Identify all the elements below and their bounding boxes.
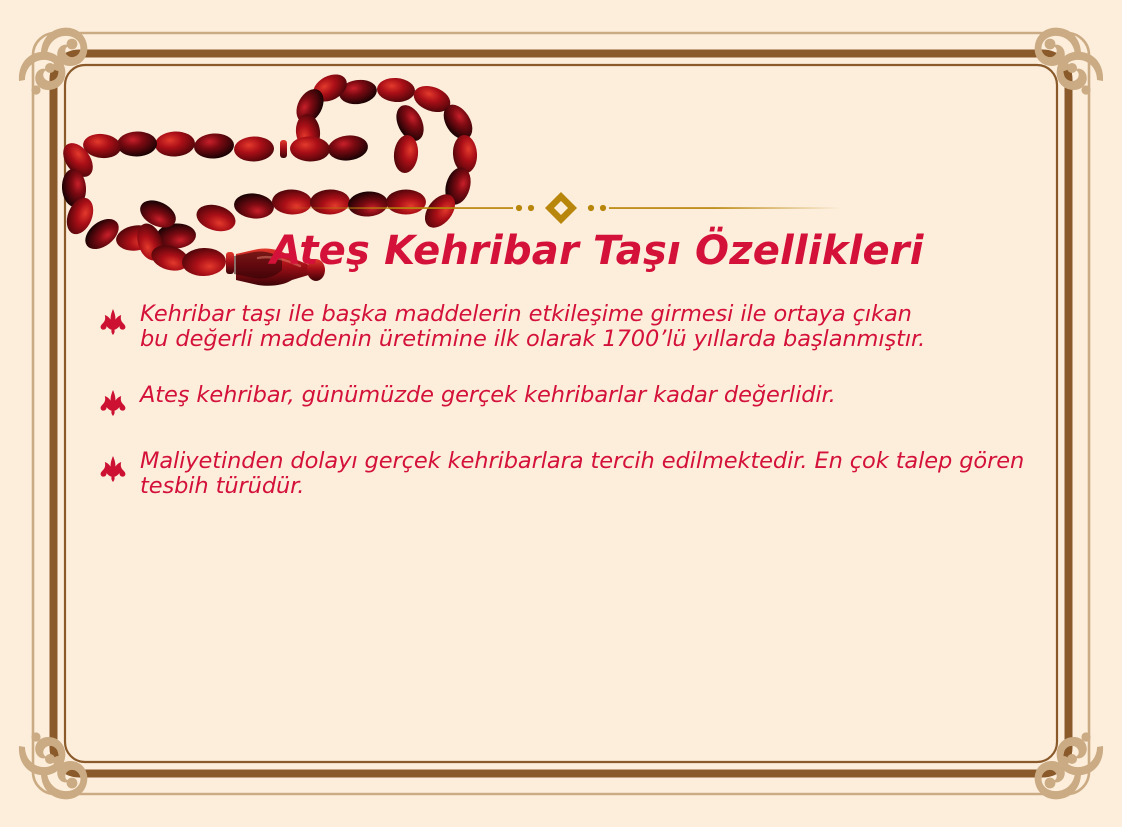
list-item: Ateş kehribar, günümüzde gerçek kehribar…: [100, 383, 1040, 417]
fleur-de-lis-icon: [100, 455, 126, 483]
fleur-de-lis-icon: [100, 308, 126, 336]
list-item-text: Kehribar taşı ile başka maddelerin etkil…: [140, 302, 930, 351]
fleur-de-lis-icon: [100, 389, 126, 417]
infographic-card: Ateş Kehribar Taşı Özellikleri Kehribar …: [0, 0, 1122, 827]
divider-rule-right: [609, 207, 841, 209]
corner-ornament-top-left: [0, 0, 150, 150]
durak-spacer: [280, 140, 287, 158]
list-item: Kehribar taşı ile başka maddelerin etkil…: [100, 302, 1040, 351]
list-item-text: Maliyetinden dolayı gerçek kehribarlara …: [140, 449, 1040, 498]
scroll-flourish-icon: [1035, 732, 1103, 799]
diamond-divider: [281, 188, 841, 228]
corner-ornament-top-right: [972, 0, 1122, 150]
corner-ornament-bottom-right: [972, 677, 1122, 827]
list-item: Maliyetinden dolayı gerçek kehribarlara …: [100, 449, 1040, 498]
corner-ornament-bottom-left: [0, 677, 150, 827]
scroll-flourish-icon: [19, 732, 87, 799]
list-item-text: Ateş kehribar, günümüzde gerçek kehribar…: [140, 383, 1040, 408]
divider-diamond-icon: [545, 192, 577, 224]
page-title: Ateş Kehribar Taşı Özellikleri: [0, 228, 1122, 274]
divider-rule-left: [281, 207, 513, 209]
features-list: Kehribar taşı ile başka maddelerin etkil…: [100, 302, 1040, 520]
scroll-flourish-icon: [19, 28, 87, 95]
scroll-flourish-icon: [1035, 28, 1103, 95]
